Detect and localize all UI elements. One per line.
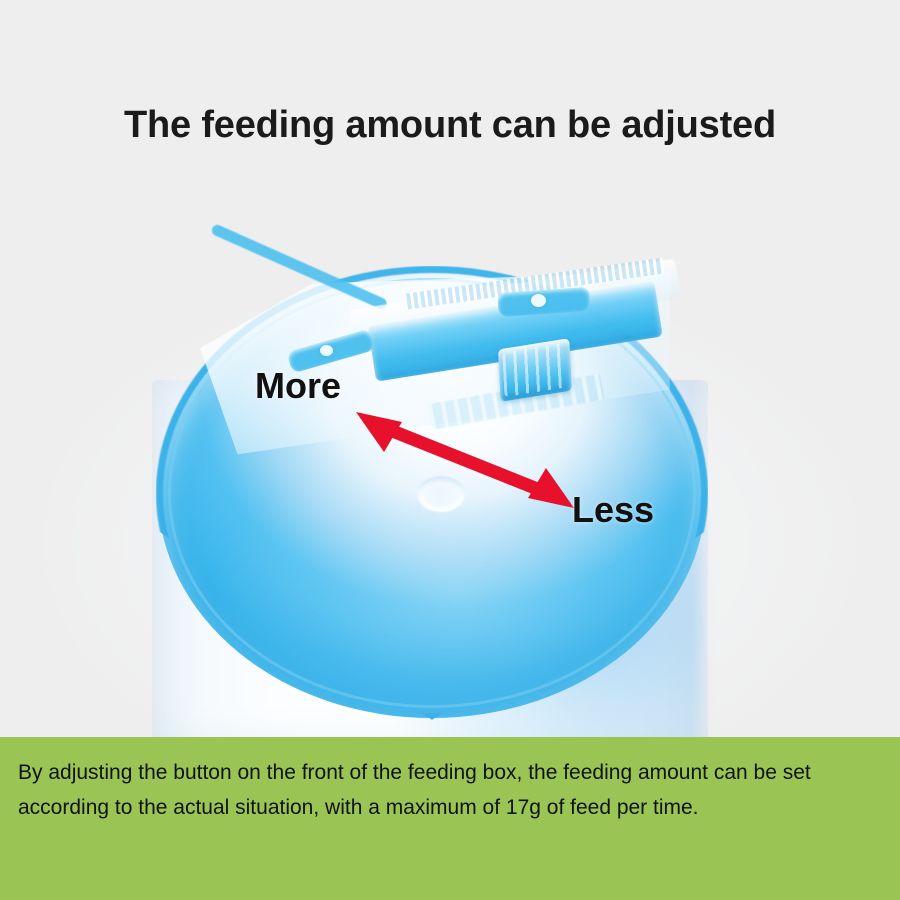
lid-tab-hole-right [531,294,546,307]
double-headed-arrow-icon [340,390,590,520]
label-more: More [255,365,341,407]
caption-text: By adjusting the button on the front of … [18,755,884,825]
lid-tab-hole-left [320,345,333,356]
page-title: The feeding amount can be adjusted [0,104,900,147]
label-less: Less [572,489,654,531]
infographic-page: More Less The feeding amount can be adju… [0,0,900,900]
caption-band: By adjusting the button on the front of … [0,737,900,900]
